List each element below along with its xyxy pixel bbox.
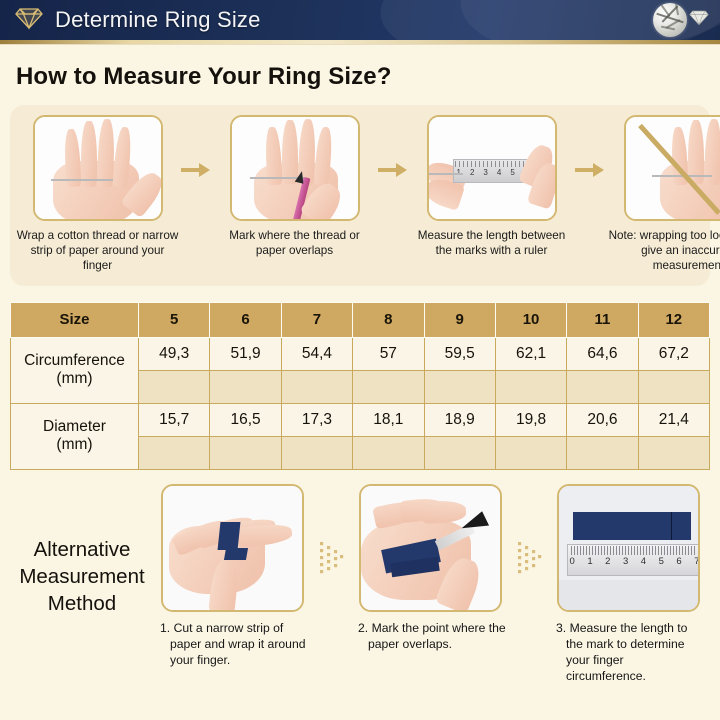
table-header-cell: 7 xyxy=(281,302,352,337)
table-cell: 64,6 xyxy=(567,337,638,370)
alt-step-2-number: 2. xyxy=(358,621,368,635)
measure-step-4: Note: wrapping too loosely can give an i… xyxy=(607,115,720,274)
diamond-icon xyxy=(14,6,44,35)
alt-step-1-photo xyxy=(161,484,304,612)
step-4-caption: Note: wrapping too loosely can give an i… xyxy=(607,229,720,274)
ruler-tick-label: 4 xyxy=(641,556,646,567)
ruler-tick-label: 7 xyxy=(694,556,699,567)
row-label-line-1: Diameter xyxy=(11,418,138,436)
table-cell: 49,3 xyxy=(139,337,210,370)
table-spacer-cell xyxy=(281,370,352,403)
ruler-tick-label: 3 xyxy=(623,556,628,567)
main-heading: How to Measure Your Ring Size? xyxy=(0,45,720,91)
alt-title-line-2: Measurement xyxy=(8,563,156,590)
alt-step-3-caption: 3. Measure the length to the mark to det… xyxy=(552,620,704,684)
dotted-arrow-right-icon xyxy=(308,484,354,580)
table-spacer-cell xyxy=(353,370,424,403)
table-header-cell: 5 xyxy=(139,302,210,337)
ruler-tick-label: 2 xyxy=(470,168,474,178)
app-header: Determine Ring Size xyxy=(0,0,720,40)
alternative-method-title: Alternative Measurement Method xyxy=(8,484,156,617)
table-spacer-cell xyxy=(424,436,495,469)
table-spacer-cell xyxy=(281,436,352,469)
page-title: Determine Ring Size xyxy=(55,7,261,33)
table-spacer-cell xyxy=(567,370,638,403)
table-header-cell: 9 xyxy=(424,302,495,337)
table-spacer-cell xyxy=(139,436,210,469)
alt-title-line-1: Alternative xyxy=(8,536,156,563)
arrow-right-icon xyxy=(376,159,410,181)
alt-step-1: 1. Cut a narrow strip of paper and wrap … xyxy=(156,484,308,668)
alt-step-1-text: Cut a narrow strip of paper and wrap it … xyxy=(170,621,306,667)
measure-step-1: Wrap a cotton thread or narrow strip of … xyxy=(16,115,179,274)
step-2-caption: Mark where the thread or paper overlaps xyxy=(213,229,376,259)
measure-steps-band: Wrap a cotton thread or narrow strip of … xyxy=(10,105,710,286)
table-header-cell: 11 xyxy=(567,302,638,337)
step-3-caption: Measure the length between the marks wit… xyxy=(410,229,573,259)
table-cell: 67,2 xyxy=(638,337,709,370)
ring-size-table: Size 5 6 7 8 9 10 11 12 Circumference (m… xyxy=(10,302,710,470)
row-label-diameter: Diameter (mm) xyxy=(11,403,139,469)
alt-step-2: 2. Mark the point where the paper overla… xyxy=(354,484,506,652)
table-cell: 59,5 xyxy=(424,337,495,370)
table-cell: 57 xyxy=(353,337,424,370)
row-label-line-1: Circumference xyxy=(11,352,138,370)
table-cell: 54,4 xyxy=(281,337,352,370)
table-spacer-cell xyxy=(638,436,709,469)
alt-step-3-number: 3. xyxy=(556,621,566,635)
ruler-tick-label: 5 xyxy=(510,168,514,178)
table-cell: 15,7 xyxy=(139,403,210,436)
row-label-circumference: Circumference (mm) xyxy=(11,337,139,403)
table-cell: 19,8 xyxy=(495,403,566,436)
table-header-cell: 6 xyxy=(210,302,281,337)
ruler-tick-label: 3 xyxy=(483,168,487,178)
step-2-photo xyxy=(230,115,360,221)
table-header-cell: 8 xyxy=(353,302,424,337)
table-row: Circumference (mm) 49,3 51,9 54,4 57 59,… xyxy=(11,337,710,370)
ruler-tick-label: 6 xyxy=(676,556,681,567)
table-cell: 16,5 xyxy=(210,403,281,436)
row-label-line-2: (mm) xyxy=(11,370,138,388)
alt-step-3-photo: 0 1 2 3 4 5 6 7 xyxy=(557,484,700,612)
table-spacer-cell xyxy=(424,370,495,403)
step-4-photo xyxy=(624,115,720,221)
table-spacer-cell xyxy=(139,370,210,403)
ruler-tick-label: 4 xyxy=(497,168,501,178)
alt-step-3: 0 1 2 3 4 5 6 7 3. Measure the length to… xyxy=(552,484,704,684)
table-cell: 17,3 xyxy=(281,403,352,436)
header-gem-group xyxy=(653,3,710,37)
ruler-tick-label: 1 xyxy=(587,556,592,567)
alt-step-1-caption: 1. Cut a narrow strip of paper and wrap … xyxy=(156,620,308,668)
dotted-arrow-right-icon xyxy=(506,484,552,580)
measure-step-2: Mark where the thread or paper overlaps xyxy=(213,115,376,259)
table-header-size: Size xyxy=(11,302,139,337)
alt-step-3-text: Measure the length to the mark to determ… xyxy=(566,621,687,683)
alt-step-2-text: Mark the point where the paper overlaps. xyxy=(368,621,506,651)
ruler-tick-label: 2 xyxy=(605,556,610,567)
measure-step-3: 1 2 3 4 5 Measure the length between the… xyxy=(410,115,573,259)
step-1-photo xyxy=(33,115,163,221)
table-spacer-cell xyxy=(638,370,709,403)
row-label-line-2: (mm) xyxy=(11,436,138,454)
table-spacer-cell xyxy=(210,436,281,469)
table-cell: 62,1 xyxy=(495,337,566,370)
ring-size-table-wrapper: Size 5 6 7 8 9 10 11 12 Circumference (m… xyxy=(10,302,710,470)
table-spacer-cell xyxy=(495,436,566,469)
alt-step-2-photo xyxy=(359,484,502,612)
table-spacer-cell xyxy=(495,370,566,403)
ruler-tick-label: 5 xyxy=(659,556,664,567)
alternative-method-section: Alternative Measurement Method 1. xyxy=(0,484,720,684)
alt-title-line-3: Method xyxy=(8,590,156,617)
gemstone-icon xyxy=(653,3,687,37)
table-cell: 20,6 xyxy=(567,403,638,436)
table-cell: 51,9 xyxy=(210,337,281,370)
arrow-right-icon xyxy=(573,159,607,181)
alt-step-2-caption: 2. Mark the point where the paper overla… xyxy=(354,620,506,652)
step-1-caption: Wrap a cotton thread or narrow strip of … xyxy=(16,229,179,274)
table-cell: 18,1 xyxy=(353,403,424,436)
table-cell: 21,4 xyxy=(638,403,709,436)
step-3-photo: 1 2 3 4 5 xyxy=(427,115,557,221)
table-row: Diameter (mm) 15,7 16,5 17,3 18,1 18,9 1… xyxy=(11,403,710,436)
table-header-cell: 10 xyxy=(495,302,566,337)
arrow-right-icon xyxy=(179,159,213,181)
diamond-icon-small xyxy=(688,9,710,31)
table-spacer-cell xyxy=(567,436,638,469)
table-spacer-cell xyxy=(210,370,281,403)
table-cell: 18,9 xyxy=(424,403,495,436)
table-spacer-cell xyxy=(353,436,424,469)
ruler-tick-label: 0 xyxy=(570,556,575,567)
table-header-row: Size 5 6 7 8 9 10 11 12 xyxy=(11,302,710,337)
table-header-cell: 12 xyxy=(638,302,709,337)
alt-step-1-number: 1. xyxy=(160,621,170,635)
